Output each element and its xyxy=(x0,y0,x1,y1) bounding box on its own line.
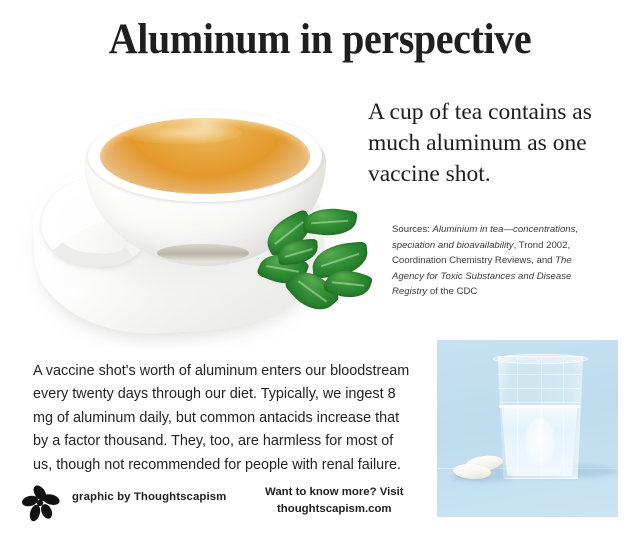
glass-highlight-line xyxy=(563,358,564,476)
glass-ridge-line xyxy=(499,402,580,403)
body-paragraph: A vaccine shot's worth of aluminum enter… xyxy=(33,360,415,477)
credit-text: graphic by Thoughtscapism xyxy=(72,491,226,503)
tea-cup-photo xyxy=(12,58,384,348)
glass-highlight-line xyxy=(517,358,518,476)
glass-ridge-line xyxy=(497,374,582,375)
thoughtscapism-logo-icon xyxy=(18,481,62,525)
sources-suffix: of the CDC xyxy=(427,286,477,297)
cta-website-url: thoughtscapism.com xyxy=(265,501,433,518)
glass-ridge-line xyxy=(498,388,581,389)
cup-foot-shape xyxy=(157,244,249,262)
cta-line-1: Want to know more? Visit xyxy=(265,486,404,498)
headline-text: A cup of tea contains as much aluminum a… xyxy=(368,97,630,190)
page-title: Aluminum in perspective xyxy=(22,17,617,63)
sources-note: Sources: Aluminium in tea—concentrations… xyxy=(392,222,596,300)
glass-highlight-line xyxy=(541,358,542,476)
tea-sheen-highlight xyxy=(122,122,242,144)
water-glass-photo xyxy=(437,340,618,517)
water-surface-line xyxy=(499,405,580,408)
effervescence-bubbles xyxy=(525,418,555,466)
call-to-action: Want to know more? Visit thoughtscapism.… xyxy=(265,484,433,518)
sources-prefix: Sources: xyxy=(392,224,433,235)
